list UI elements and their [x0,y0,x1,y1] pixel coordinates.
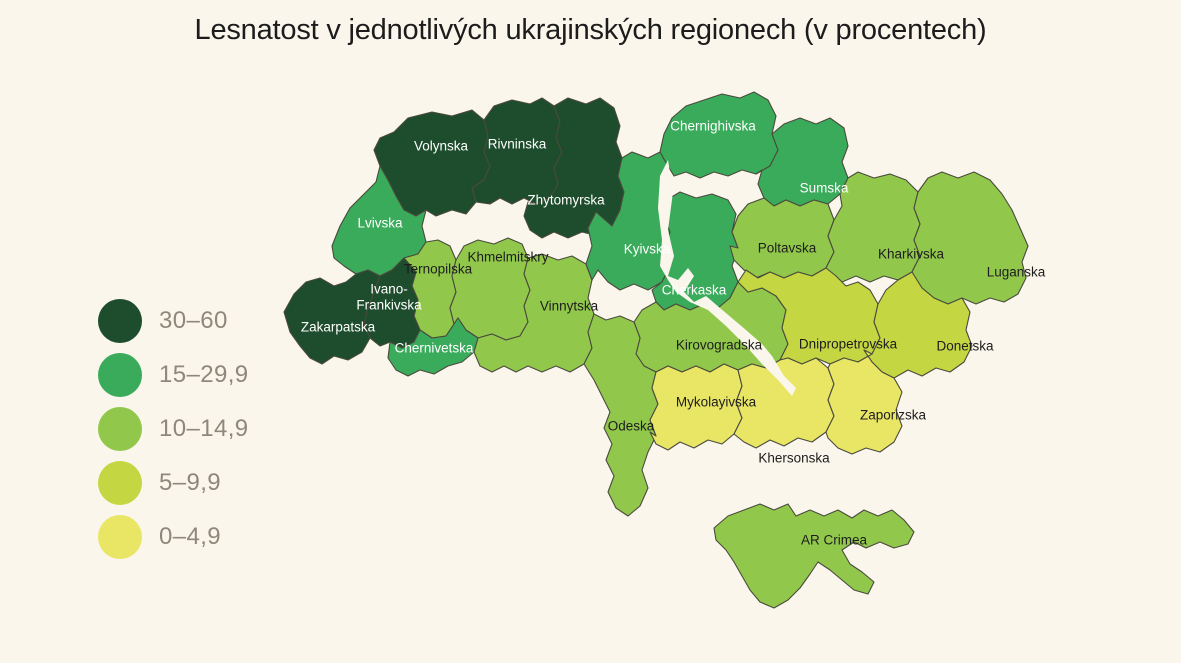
legend-swatch [98,299,142,343]
legend-item: 0–4,9 [98,510,288,564]
legend-label: 30–60 [159,307,228,335]
map-region-rivninska[interactable]: Rivninska – 30–60 % [472,98,562,204]
legend-swatch [98,461,142,505]
legend-item: 15–29,9 [98,348,288,402]
legend-label: 5–9,9 [159,469,221,497]
legend: 30–6015–29,910–14,95–9,90–4,9 [98,294,288,564]
page-title: Lesnatost v jednotlivých ukrajinských re… [0,14,1181,47]
map-region-mykolayivska[interactable]: Mykolayivska – 0–4,9 % [650,364,742,450]
legend-swatch [98,515,142,559]
legend-label: 10–14,9 [159,415,249,443]
map-svg: Volynska – 30–60 %Rivninska – 30–60 %Zhy… [276,80,1136,625]
regions-layer: Volynska – 30–60 %Rivninska – 30–60 %Zhy… [284,92,1028,608]
legend-item: 5–9,9 [98,456,288,510]
map-page: Lesnatost v jednotlivých ukrajinských re… [0,0,1181,663]
legend-swatch [98,353,142,397]
legend-item: 30–60 [98,294,288,348]
map-region-chernighivska[interactable]: Chernighivska – 15–29,9 % [660,92,778,178]
legend-label: 0–4,9 [159,523,221,551]
legend-label: 15–29,9 [159,361,249,389]
map-region-khersonska[interactable]: Khersonska – 0–4,9 % [734,358,834,448]
map-region-poltavska[interactable]: Poltavska – 10–14,9 % [730,198,834,278]
legend-swatch [98,407,142,451]
region-label: Khersonska [758,451,830,466]
choropleth-map: Volynska – 30–60 %Rivninska – 30–60 %Zhy… [276,80,1136,625]
map-region-zakarpatska[interactable]: Zakarpatska – 30–60 % [284,270,380,364]
legend-item: 10–14,9 [98,402,288,456]
map-region-luganska[interactable]: Luganska – 10–14,9 % [912,172,1028,304]
map-region-ar-crimea[interactable]: AR Crimea – 10–14,9 % [714,504,914,608]
